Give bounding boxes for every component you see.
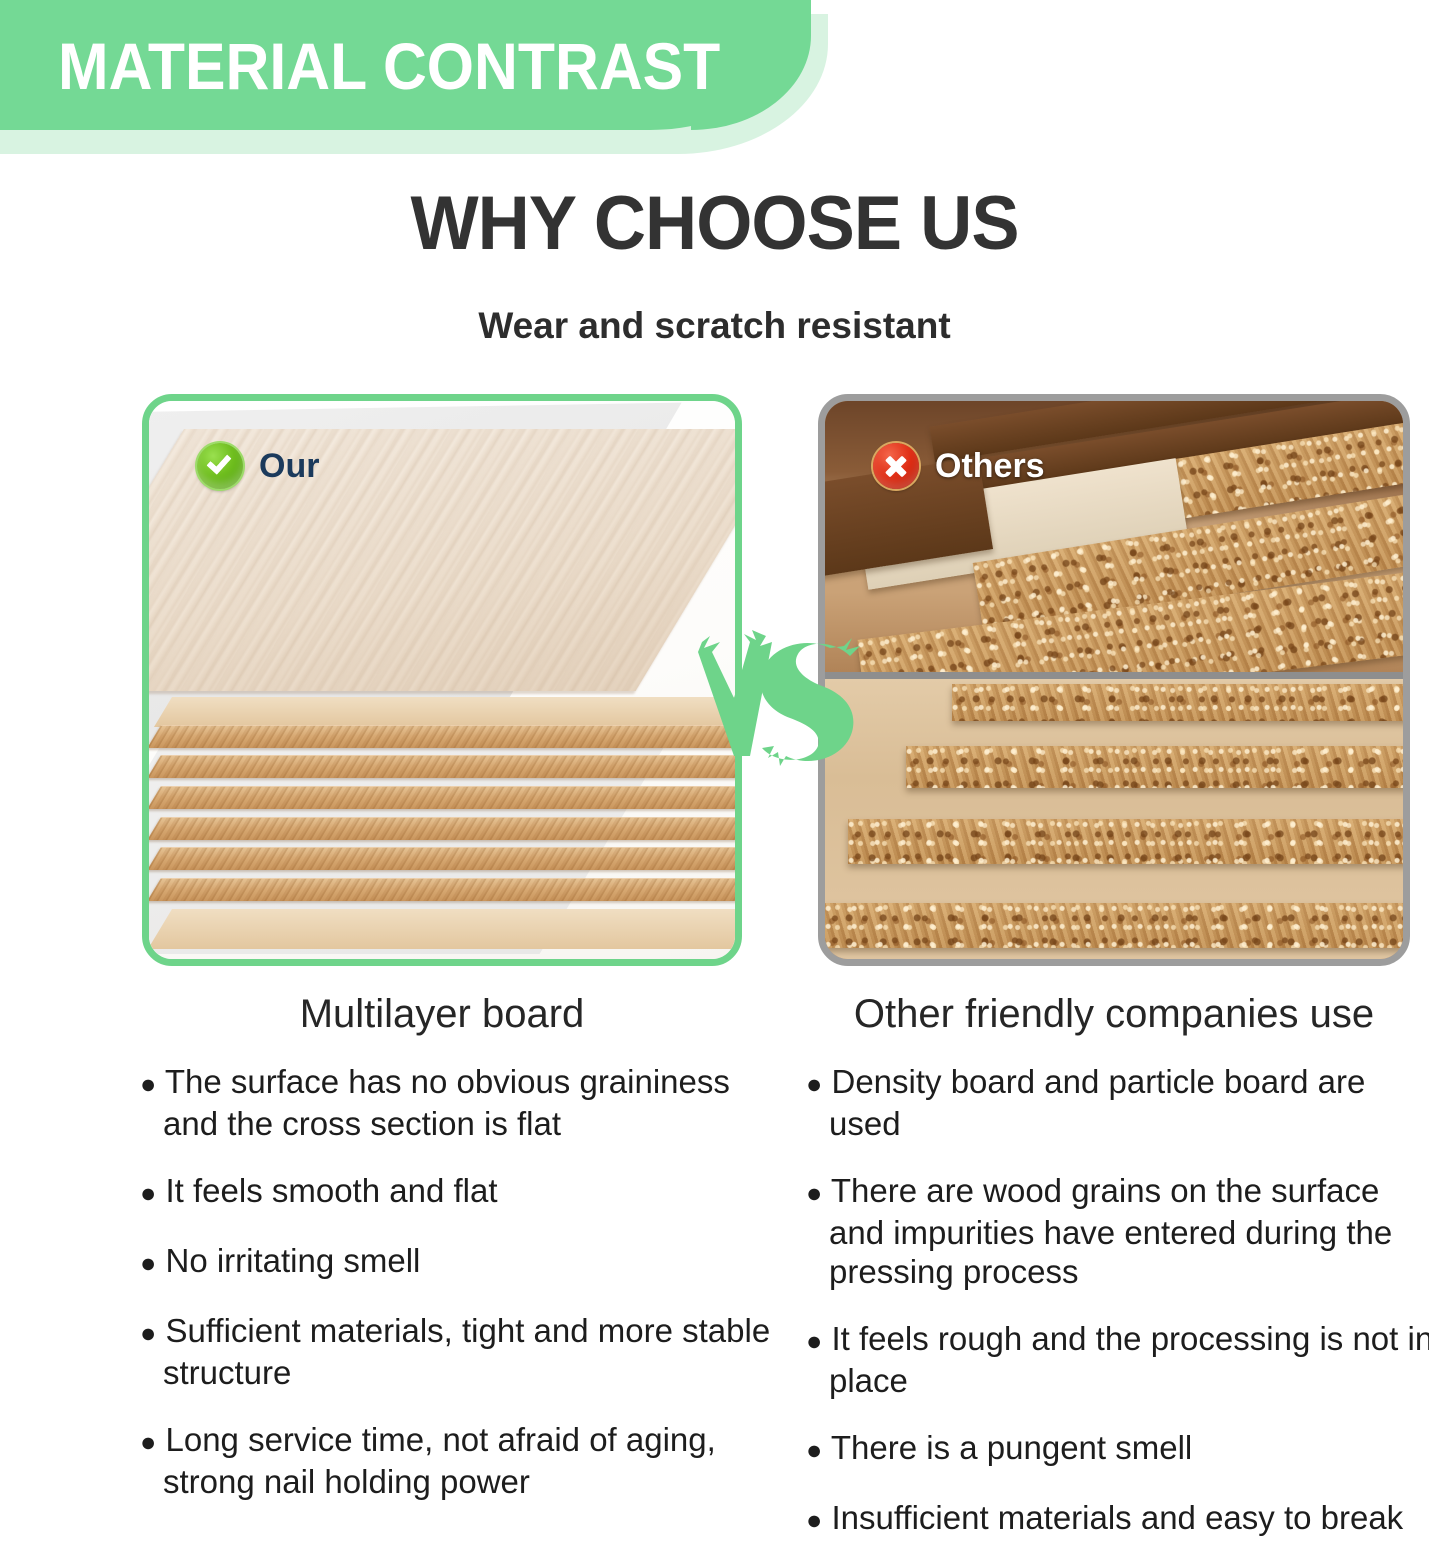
bullet-list-others: ● Density board and particle board are u… [806, 1062, 1429, 1568]
bullet-text: It feels smooth and flat [165, 1172, 497, 1209]
bullet-text: Density board and particle board are use… [829, 1063, 1365, 1142]
bullet-text: No irritating smell [165, 1242, 420, 1279]
bullet-marker: ● [140, 1318, 156, 1348]
bullet-marker: ● [806, 1178, 822, 1208]
bullet-text: There are wood grains on the surface and… [829, 1172, 1392, 1290]
banner-title: MATERIAL CONTRAST [58, 22, 720, 110]
bullet-marker: ● [140, 1069, 156, 1099]
bullet-item: ● The surface has no obvious graininess … [140, 1062, 788, 1143]
our-badge-label: Our [259, 447, 319, 486]
bullet-item: ● There is a pungent smell [806, 1428, 1429, 1470]
bullet-marker: ● [806, 1069, 822, 1099]
bullet-item: ● Insufficient materials and easy to bre… [806, 1498, 1429, 1540]
bullet-item: ● Long service time, not afraid of aging… [140, 1420, 788, 1501]
bullet-marker: ● [140, 1178, 156, 1208]
header-banner: MATERIAL CONTRAST [0, 0, 900, 165]
bullet-text: Sufficient materials, tight and more sta… [163, 1312, 770, 1391]
caption-our: Multilayer board [142, 992, 742, 1037]
bullet-item: ● Density board and particle board are u… [806, 1062, 1429, 1143]
x-circle-icon [873, 443, 919, 489]
laminate-plank [147, 786, 742, 809]
bullet-text: The surface has no obvious graininess an… [163, 1063, 730, 1142]
bullet-item: ● It feels rough and the processing is n… [806, 1319, 1429, 1400]
laminate-plank [147, 878, 742, 901]
bullet-text: Insufficient materials and easy to break [831, 1499, 1403, 1536]
page-subtitle: Wear and scratch resistant [0, 305, 1429, 347]
particle-board-photo-bottom [825, 679, 1403, 959]
page-title: WHY CHOOSE US [36, 180, 1394, 267]
laminate-plank [147, 847, 742, 870]
particle-board-strip [825, 903, 1403, 948]
bullet-item: ● No irritating smell [140, 1241, 788, 1283]
laminate-plank [147, 755, 742, 778]
our-badge: Our [197, 443, 319, 489]
bullet-item: ● Sufficient materials, tight and more s… [140, 1311, 788, 1392]
laminate-bottom-sheet [148, 909, 742, 949]
particle-board-strip [906, 746, 1403, 788]
comparison-panel-others: Others [818, 394, 1410, 966]
bullet-text: Long service time, not afraid of aging, … [163, 1421, 716, 1500]
bullet-marker: ● [140, 1248, 156, 1278]
bullet-marker: ● [806, 1505, 822, 1535]
laminate-edge-face [154, 697, 742, 727]
mdf-board-photo-top [825, 401, 1403, 674]
bullet-marker: ● [140, 1427, 156, 1457]
particle-board-strip [848, 819, 1403, 864]
particle-board-strip [952, 684, 1403, 720]
bullet-item: ● It feels smooth and flat [140, 1171, 788, 1213]
others-badge: Others [873, 443, 1045, 489]
others-badge-label: Others [935, 447, 1045, 486]
bullet-marker: ● [806, 1435, 822, 1465]
check-circle-icon [197, 443, 243, 489]
bullet-text: There is a pungent smell [831, 1429, 1192, 1466]
caption-others: Other friendly companies use [818, 992, 1410, 1037]
bullet-list-our: ● The surface has no obvious graininess … [140, 1062, 788, 1529]
laminate-plank [147, 817, 742, 840]
bullet-text: It feels rough and the processing is not… [829, 1320, 1429, 1399]
bullet-item: ● There are wood grains on the surface a… [806, 1171, 1429, 1291]
laminate-plank [147, 725, 742, 748]
bullet-marker: ● [806, 1326, 822, 1356]
comparison-panel-our: Our [142, 394, 742, 966]
